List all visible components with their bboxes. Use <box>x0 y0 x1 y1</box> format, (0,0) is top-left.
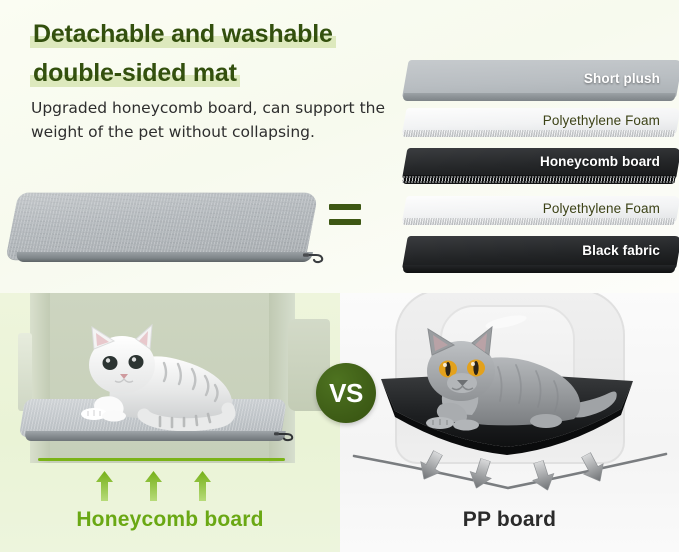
layer-label-foam-top: Polyethylene Foam <box>543 113 660 128</box>
mat-top-surface <box>6 193 319 260</box>
layer-edge-corrugated <box>402 175 676 184</box>
layer-edge <box>402 93 675 101</box>
mat-product-photo <box>12 192 322 282</box>
up-arrow-icon-2 <box>145 471 162 501</box>
equals-sign <box>329 204 361 232</box>
support-line <box>38 458 285 461</box>
layer-label-honeycomb-board: Honeycomb board <box>540 154 660 169</box>
subtitle-text: Upgraded honeycomb board, can support th… <box>31 96 391 144</box>
mat-edge <box>24 431 286 441</box>
layer-label-black-fabric: Black fabric <box>582 243 660 258</box>
caption-pp-board: PP board <box>340 508 679 532</box>
equals-bar-bottom <box>329 219 361 225</box>
layer-edge <box>402 265 675 273</box>
infographic-page: Detachable and washable double-sided mat… <box>0 0 679 552</box>
layer-stack-diagram: Short plush Polyethylene Foam Honeycomb … <box>402 60 676 278</box>
top-section: Detachable and washable double-sided mat… <box>0 0 679 293</box>
layer-edge <box>402 218 675 225</box>
equals-bar-top <box>329 204 361 210</box>
zipper-pull-icon <box>303 251 327 264</box>
sagging-curve-line <box>350 448 670 503</box>
cat-white-tabby <box>60 321 275 431</box>
title-line-2: double-sided mat <box>30 56 240 90</box>
layer-label-foam-bottom: Polyethylene Foam <box>543 201 660 216</box>
zipper-pull-icon <box>274 430 296 442</box>
title-line-1-text: Detachable and washable <box>33 20 333 48</box>
mat-side-edge <box>15 252 313 262</box>
title-block: Detachable and washable double-sided mat <box>30 17 400 90</box>
layer-edge <box>402 130 675 137</box>
title-line-1: Detachable and washable <box>30 17 336 51</box>
up-arrow-icon-1 <box>96 471 113 501</box>
up-arrow-icon-3 <box>194 471 211 501</box>
vs-badge-label: VS <box>329 378 363 409</box>
cat-gray <box>388 313 623 438</box>
layer-label-short-plush: Short plush <box>584 71 660 86</box>
caption-honeycomb-board: Honeycomb board <box>0 508 340 532</box>
title-line-2-text: double-sided mat <box>33 59 237 87</box>
vs-badge: VS <box>316 363 376 423</box>
